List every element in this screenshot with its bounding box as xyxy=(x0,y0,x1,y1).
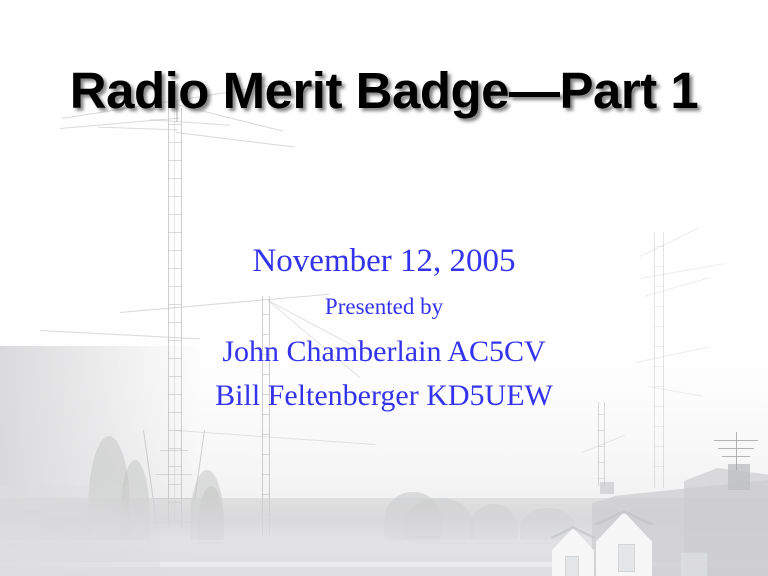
tree xyxy=(404,498,474,544)
house-dormer-edge xyxy=(594,510,654,542)
chimney xyxy=(728,464,750,490)
house-roof-far xyxy=(684,468,768,576)
tree xyxy=(0,510,60,546)
house-window xyxy=(618,544,635,572)
tree xyxy=(470,504,518,544)
horizon-band xyxy=(0,498,768,542)
house-dormer xyxy=(596,512,652,576)
chimney xyxy=(600,482,614,494)
subtitle-block: November 12, 2005 Presented by John Cham… xyxy=(0,240,768,418)
page-title: Radio Merit Badge—Part 1 xyxy=(0,62,768,120)
bottom-left-vignette xyxy=(0,486,160,576)
presenter-name-2: Bill Feltenberger KD5UEW xyxy=(0,374,768,418)
tree xyxy=(198,486,224,544)
tree xyxy=(384,492,442,542)
tree xyxy=(520,508,576,544)
presentation-date: November 12, 2005 xyxy=(0,240,768,282)
presenter-name-1: John Chamberlain AC5CV xyxy=(0,330,768,374)
foreground-strip xyxy=(0,562,768,567)
house-roof-main xyxy=(592,478,768,576)
house-dormer-edge xyxy=(550,526,596,552)
yagi-boom-far-right xyxy=(582,435,625,453)
tree xyxy=(190,470,224,544)
tree xyxy=(120,460,150,542)
presented-by-label: Presented by xyxy=(0,292,768,322)
house-window xyxy=(680,552,708,576)
house-dormer xyxy=(552,528,594,576)
antenna-tower-main-base xyxy=(150,430,198,530)
tree xyxy=(40,516,92,546)
foreground-band xyxy=(0,540,768,576)
house-window xyxy=(565,556,579,576)
wire-antenna xyxy=(176,430,376,445)
presentation-slide: Radio Merit Badge—Part 1 November 12, 20… xyxy=(0,0,768,576)
tree xyxy=(88,436,130,540)
